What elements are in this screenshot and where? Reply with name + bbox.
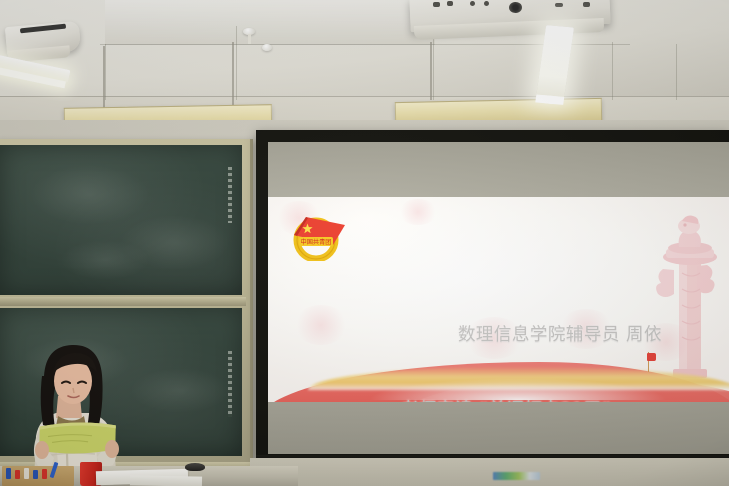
marker-white [24, 468, 29, 479]
ceiling-wall-seam [0, 96, 729, 97]
marker-blue [6, 468, 11, 479]
chalkboard-divider [0, 297, 246, 306]
chalkboard-panel-upper [0, 145, 242, 295]
marker-red [42, 469, 47, 479]
marker-blue [33, 470, 38, 479]
blossom-decor [294, 305, 348, 345]
chalk-smudge [60, 240, 150, 280]
marker-red [15, 470, 20, 479]
wall-vertical-seam [433, 36, 434, 100]
marker-box [2, 466, 74, 486]
ceiling-panel [105, 0, 435, 45]
projector-port [447, 1, 453, 6]
projector-port [470, 1, 475, 6]
chalkboard-edge-marking [228, 351, 232, 417]
light-hanger [232, 42, 234, 108]
slide-title-text: 数理信息学院辅导员 周依 老师宣读 “单词打卡21天” 活动表彰文件 [346, 273, 666, 402]
projector-port [555, 3, 563, 7]
sensor-housing [262, 44, 272, 51]
presentation-slide: 中国共青团 [268, 197, 729, 402]
paper-stack-secondary [130, 475, 202, 486]
communist-youth-league-emblem: 中国共青团 [288, 209, 350, 261]
screen-letterbox-top [268, 142, 729, 197]
wall-vertical-seam [612, 42, 613, 100]
projector-port [484, 1, 489, 6]
blossom-decor [398, 199, 438, 225]
computer-mouse [185, 463, 205, 471]
wall-vertical-seam [105, 44, 106, 100]
projection-screen-surface: 中国共青团 [268, 142, 729, 454]
chalkboard-edge-marking [228, 167, 232, 223]
wall-vertical-seam [236, 26, 237, 100]
chalk-smudge [30, 165, 150, 225]
projector-port [433, 2, 440, 7]
speaker-reading-document [18, 340, 138, 486]
slide-line-2: 老师宣读 “单词打卡21天” [346, 398, 666, 402]
projector-port [583, 2, 590, 7]
chalk-smudge [130, 368, 230, 413]
wall-vertical-seam [676, 44, 677, 100]
slide-line-1: 数理信息学院辅导员 周依 [346, 323, 666, 348]
light-hanger [103, 46, 105, 108]
desk-sticker-logo [493, 472, 540, 480]
emblem-text: 中国共青团 [301, 238, 332, 246]
front-desk-right [250, 458, 729, 486]
screen-letterbox-bottom [268, 402, 729, 454]
classroom-photo-scene: 中国共青团 [0, 0, 729, 486]
sensor-stem [248, 34, 251, 44]
light-hanger [430, 42, 432, 100]
